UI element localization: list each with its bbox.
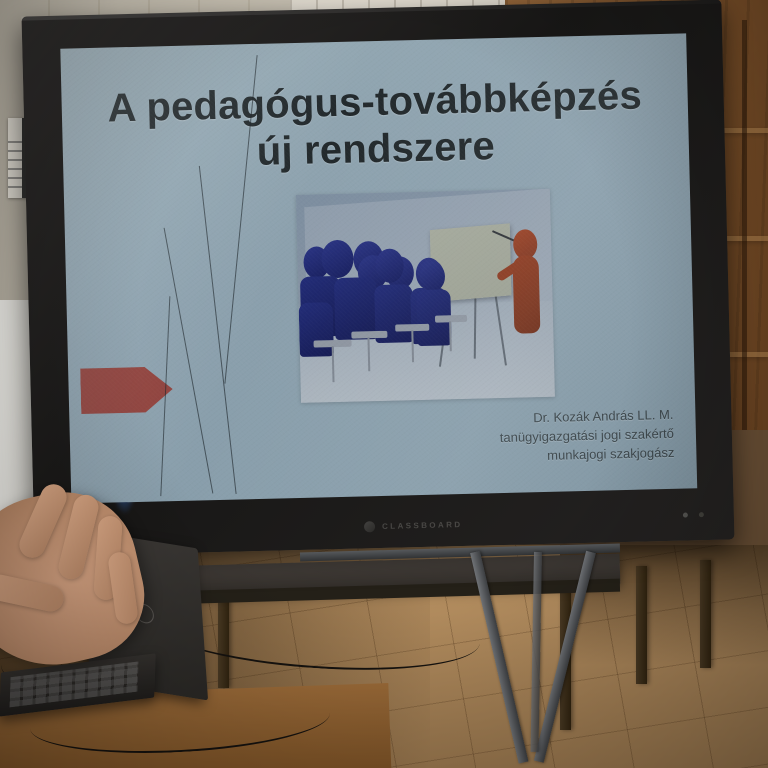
- brand-logo-icon: [364, 521, 375, 532]
- photo-scene: A pedagógus-továbbképzés új rendszere: [0, 0, 768, 768]
- desk-leg: [700, 560, 711, 668]
- cabinet-divider: [742, 20, 747, 430]
- power-led-icon: [699, 512, 704, 517]
- wall-device-label: [8, 136, 22, 188]
- ir-sensor-icon: [683, 513, 688, 518]
- laptop-keyboard[interactable]: [10, 661, 139, 707]
- interactive-display[interactable]: A pedagógus-továbbképzés új rendszere: [22, 0, 735, 556]
- desk-leg: [636, 566, 647, 684]
- screen-texture: [60, 33, 697, 503]
- display-screen[interactable]: A pedagógus-továbbképzés új rendszere: [60, 33, 697, 503]
- brand-name: CLASSBOARD: [382, 520, 463, 531]
